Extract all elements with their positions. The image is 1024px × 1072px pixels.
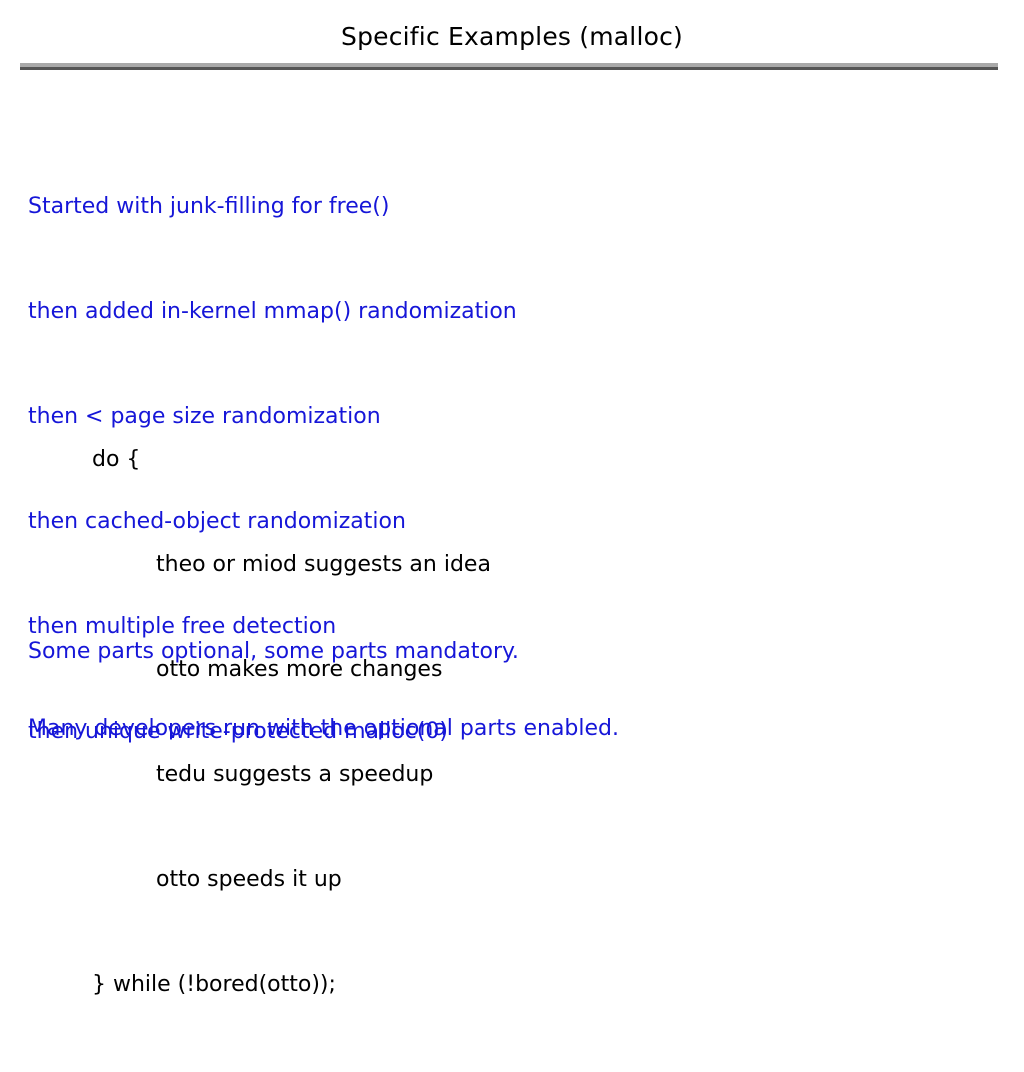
closing-statement-optional-mandatory: Some parts optional, some parts mandator… (28, 634, 519, 669)
code-line-otto-speeds: otto speeds it up (92, 862, 491, 897)
code-line-theo-miod: theo or miod suggests an idea (92, 547, 491, 582)
code-line-while-close: } while (!bored(otto)); (92, 967, 491, 1002)
code-line-tedu-speedup: tedu suggests a speedup (92, 757, 491, 792)
page-title: Specific Examples (malloc) (0, 22, 1024, 52)
slide-canvas: Specific Examples (malloc) Started with … (0, 0, 1024, 768)
history-line-1: Started with junk-filling for free() (28, 189, 517, 224)
divider-dark-band (20, 67, 998, 70)
code-line-do-open: do { (92, 442, 491, 477)
history-line-2: then added in-kernel mmap() randomizatio… (28, 294, 517, 329)
title-divider-rule (20, 63, 998, 70)
closing-statement-developers: Many developers run with the optional pa… (28, 711, 619, 746)
